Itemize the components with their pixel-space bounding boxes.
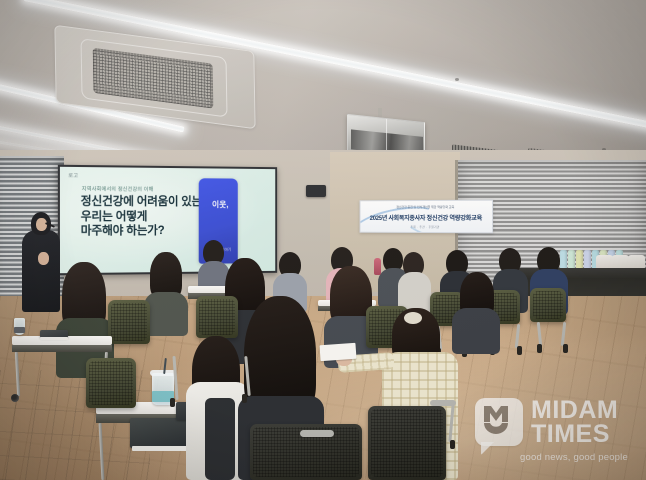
hair-scrunchie — [404, 312, 422, 324]
chair-foot — [450, 440, 455, 449]
chair-mesh — [111, 303, 147, 341]
chair-mesh — [89, 361, 133, 405]
supply-bottle — [584, 250, 591, 270]
chair — [368, 406, 446, 480]
presenter-hand — [38, 252, 49, 265]
desk-table-edge — [12, 345, 112, 352]
supply-bottle — [576, 250, 583, 270]
midam-logo-tail — [481, 442, 494, 455]
chair-foot — [537, 344, 542, 353]
banner-main-title: 2025년 사회복지종사자 정신건강 역량강화교육 — [360, 213, 492, 222]
attendee-body — [452, 308, 500, 354]
chair — [86, 358, 136, 408]
photo-scene: 로고 지역사회에서의 정신건강의 이해 정신건강에 어려움이 있는 우리는 어떻… — [0, 0, 646, 480]
chair-foot — [517, 346, 522, 355]
notebook — [130, 418, 188, 448]
watermark-tagline: good news, good people — [504, 452, 644, 463]
attendee-body — [144, 292, 188, 336]
attendee-vest — [205, 398, 235, 480]
banner-top-line: 정신건강 증진 및 인식개선을 위한 역량강화 교육 — [360, 205, 492, 209]
wall-speaker — [306, 185, 326, 197]
chair-armrest — [300, 430, 334, 437]
notebook-pages — [40, 337, 68, 340]
notebook-pages — [132, 446, 188, 451]
banner-sponsor-logos: 주최 · 주관 · 후원기관 — [360, 225, 492, 229]
midam-logo-m-icon — [482, 404, 516, 436]
watermark-brand-line-2: TIMES — [531, 422, 610, 448]
slide-highlight-word: 이웃, — [204, 199, 237, 210]
chair-foot — [170, 398, 175, 407]
chair-mesh — [533, 291, 563, 319]
watermark: MIDAM TIMES good news, good people — [473, 396, 641, 472]
presenter-body — [22, 230, 60, 312]
slide-corner-mark: 로고 — [68, 172, 78, 179]
handout-paper — [319, 343, 356, 361]
event-banner: 정신건강 증진 및 인식개선을 위한 역량강화 교육 2025년 사회복지종사자… — [360, 200, 494, 234]
chair — [108, 300, 150, 344]
chair — [530, 288, 566, 322]
slide-kicker-text: 지역사회에서의 정신건강의 이해 — [82, 185, 154, 193]
supply-bottle — [568, 250, 575, 270]
chair-foot — [242, 394, 247, 403]
chair — [196, 296, 238, 338]
ceiling-sensor — [455, 78, 459, 81]
chair-foot — [563, 344, 568, 353]
chair-mesh — [371, 409, 443, 477]
tumbler — [374, 258, 381, 275]
chair-mesh — [199, 299, 235, 335]
table-caster — [11, 394, 19, 402]
cup-sleeve — [14, 327, 25, 333]
supply-bottle — [560, 250, 567, 270]
